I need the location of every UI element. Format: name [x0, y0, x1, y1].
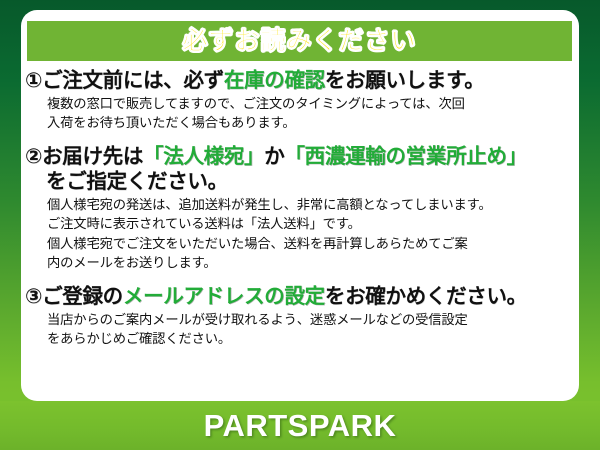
section-3-number: ③ [25, 285, 42, 308]
section-1-heading-highlight: 在庫の確認 [224, 69, 325, 92]
footer-brand-bar: PARTSPARK [0, 401, 600, 450]
section-3-heading: ③ご登録のメールアドレスの設定をお確かめください。 [25, 284, 577, 309]
section-2-body: 個人様宅宛の発送は、追加送料が発生し、非常に高額となってしまいます。 ご注文時に… [25, 195, 577, 272]
notice-frame: 必ずお読みください ①ご注文前には、必ず在庫の確認をお願いします。 複数の窓口で… [0, 0, 600, 450]
section-1-heading-part-1: ご注文前には、必ず [42, 69, 224, 92]
section-3-heading-part-1: ご登録の [42, 285, 123, 308]
section-1-number: ① [25, 69, 42, 92]
notice-section-1: ①ご注文前には、必ず在庫の確認をお願いします。 複数の窓口で販売してますので、ご… [25, 68, 577, 132]
section-2-heading-part-3: か [264, 145, 284, 168]
section-2-heading-highlight-1: 「法人様宛」 [143, 145, 264, 168]
header-banner: 必ずお読みください [27, 21, 572, 61]
section-1-heading-part-3: をお願いします。 [325, 69, 485, 92]
brand-logo-text: PARTSPARK [204, 410, 397, 441]
section-2-heading-highlight-2: 「西濃運輸の営業所止め」 [284, 145, 526, 168]
section-3-body: 当店からのご案内メールが受け取れるよう、迷惑メールなどの受信設定 をあらかじめご… [25, 310, 577, 348]
notice-sections: ①ご注文前には、必ず在庫の確認をお願いします。 複数の窓口で販売してますので、ご… [25, 68, 577, 350]
header-title: 必ずお読みください [182, 29, 416, 54]
section-3-heading-highlight: メールアドレスの設定 [123, 285, 325, 308]
notice-section-3: ③ご登録のメールアドレスの設定をお確かめください。 当店からのご案内メールが受け… [25, 284, 577, 348]
notice-section-2: ②お届け先は「法人様宛」か「西濃運輸の営業所止め」 をご指定ください。 個人様宅… [25, 144, 577, 272]
section-2-heading-part-1: お届け先は [42, 145, 143, 168]
section-2-heading: ②お届け先は「法人様宛」か「西濃運輸の営業所止め」 をご指定ください。 [25, 144, 577, 194]
section-3-heading-part-3: をお確かめください。 [325, 285, 527, 308]
section-1-heading: ①ご注文前には、必ず在庫の確認をお願いします。 [25, 68, 577, 93]
section-2-number: ② [25, 145, 42, 168]
notice-card: 必ずお読みください ①ご注文前には、必ず在庫の確認をお願いします。 複数の窓口で… [21, 10, 579, 401]
section-1-body: 複数の窓口で販売してますので、ご注文のタイミングによっては、次回 入荷をお待ち頂… [25, 94, 577, 132]
section-2-heading-continuation: をご指定ください。 [25, 169, 577, 194]
